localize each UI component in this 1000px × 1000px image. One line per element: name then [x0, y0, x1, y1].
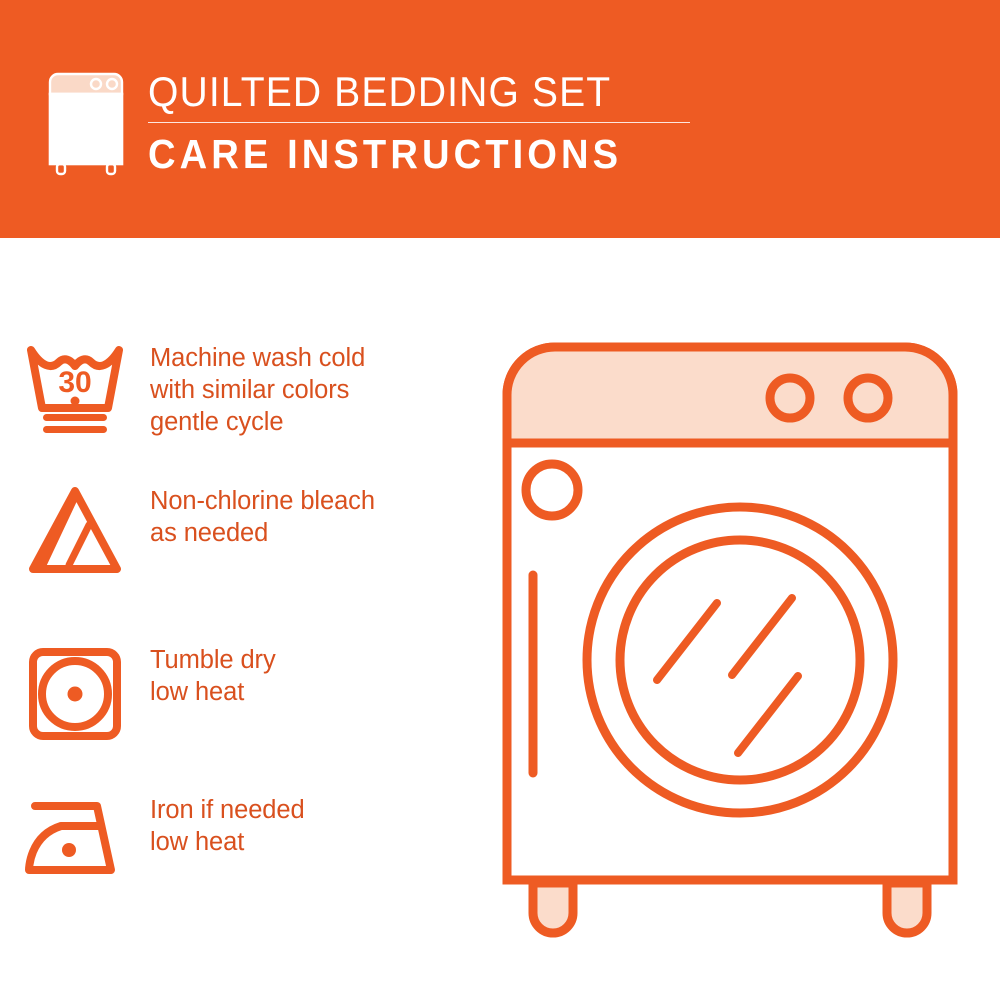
care-line: Tumble dry	[150, 644, 276, 676]
washing-machine-illustration	[495, 335, 965, 940]
non-chlorine-bleach-triangle-icon	[0, 481, 150, 579]
care-line: low heat	[150, 676, 276, 708]
tumble-dry-low-heat-icon	[0, 640, 150, 746]
page-subtitle: CARE INSTRUCTIONS	[148, 130, 669, 178]
leg-right	[887, 883, 927, 933]
care-text-bleach: Non-chlorine bleach as needed	[150, 481, 375, 549]
care-row-tumble-dry: Tumble dry low heat	[0, 640, 490, 746]
washing-machine-icon	[44, 72, 136, 176]
care-row-bleach: Non-chlorine bleach as needed	[0, 481, 490, 579]
care-instructions-infographic: QUILTED BEDDING SET CARE INSTRUCTIONS 30…	[0, 0, 1000, 1000]
care-text-tumble-dry: Tumble dry low heat	[150, 640, 276, 708]
care-row-iron: Iron if needed low heat	[0, 790, 490, 884]
header-text-block: QUILTED BEDDING SET CARE INSTRUCTIONS	[148, 68, 708, 178]
care-line: Iron if needed	[150, 794, 305, 826]
care-line: Non-chlorine bleach	[150, 485, 375, 517]
care-line: gentle cycle	[150, 406, 365, 438]
knob-left	[770, 378, 810, 418]
header-band: QUILTED BEDDING SET CARE INSTRUCTIONS	[0, 0, 1000, 238]
page-title: QUILTED BEDDING SET	[148, 68, 669, 116]
title-divider	[148, 122, 690, 123]
care-line: Machine wash cold	[150, 342, 365, 374]
wash-temperature-label: 30	[58, 366, 91, 399]
care-text-machine-wash: Machine wash cold with similar colors ge…	[150, 338, 365, 438]
leg-left	[533, 883, 573, 933]
care-row-machine-wash: 30 Machine wash cold with similar colors…	[0, 338, 490, 444]
care-text-iron: Iron if needed low heat	[150, 790, 305, 858]
care-line: with similar colors	[150, 374, 365, 406]
indicator-light	[526, 464, 578, 516]
care-instruction-list: 30 Machine wash cold with similar colors…	[0, 238, 490, 1000]
care-line: low heat	[150, 826, 305, 858]
care-line: as needed	[150, 517, 375, 549]
iron-low-heat-icon	[0, 790, 150, 884]
knob-right	[848, 378, 888, 418]
wash-tub-30-gentle-icon: 30	[0, 338, 150, 444]
